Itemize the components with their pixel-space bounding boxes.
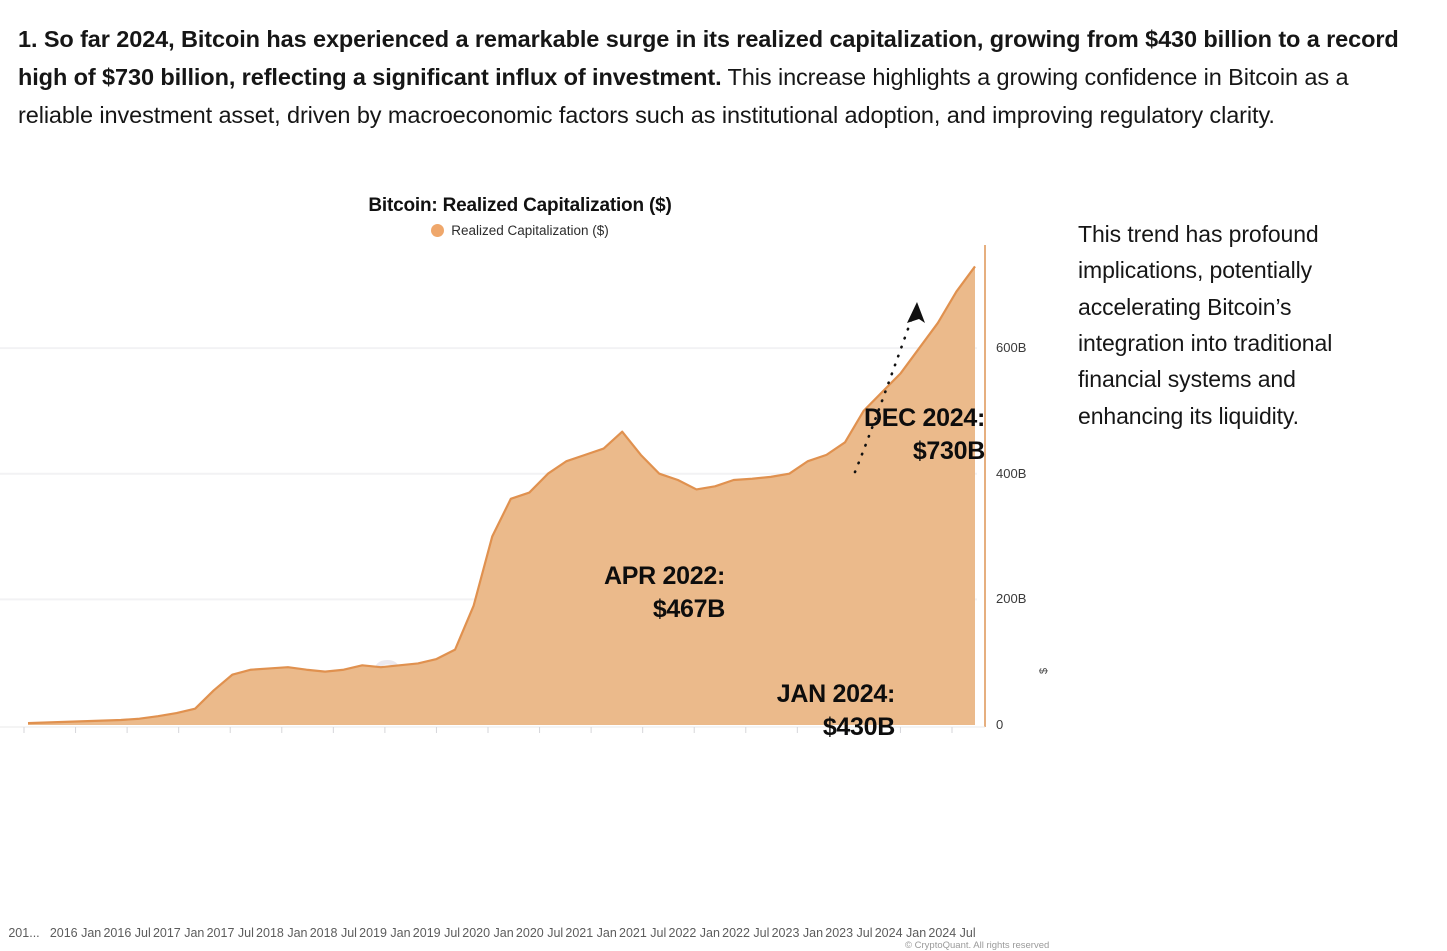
annotation-dec-2024: DEC 2024: $730B [790, 402, 985, 468]
x-tick-label-14: 2022 Jul [722, 926, 769, 940]
annotation-apr-2022: APR 2022: $467B [530, 560, 725, 626]
chart-credit: © CryptoQuant. All rights reserved [905, 940, 1049, 951]
annotation-jan-2024-value: $430B [700, 711, 895, 744]
annotation-apr-2022-value: $467B [530, 593, 725, 626]
x-tick-label-8: 2019 Jul [413, 926, 460, 940]
x-tick-label-4: 2017 Jul [207, 926, 254, 940]
x-tick-label-10: 2020 Jul [516, 926, 563, 940]
x-tick-label-17: 2024 Jan [875, 926, 926, 940]
x-tick-label-18: 2024 Jul [928, 926, 975, 940]
annotation-dec-2024-value: $730B [790, 435, 985, 468]
y-tick-label-600B: 600B [996, 340, 1026, 355]
x-tick-label-6: 2018 Jul [310, 926, 357, 940]
x-tick-label-5: 2018 Jan [256, 926, 307, 940]
y-tick-label-0: 0 [996, 717, 1003, 732]
x-tick-label-11: 2021 Jan [565, 926, 616, 940]
x-tick-label-2: 2016 Jul [103, 926, 150, 940]
chart-plot-area [0, 190, 1060, 760]
x-tick-label-13: 2022 Jan [669, 926, 720, 940]
annotation-apr-2022-label: APR 2022: [530, 560, 725, 593]
x-tick-label-15: 2023 Jan [772, 926, 823, 940]
y-axis-title: $ [1038, 668, 1050, 674]
annotation-dec-2024-label: DEC 2024: [790, 402, 985, 435]
y-tick-label-200B: 200B [996, 591, 1026, 606]
intro-paragraph: 1. So far 2024, Bitcoin has experienced … [18, 20, 1418, 134]
y-tick-label-400B: 400B [996, 466, 1026, 481]
x-axis-tick-labels: 201...2016 Jan2016 Jul2017 Jan2017 Jul20… [0, 926, 980, 944]
x-tick-label-7: 2019 Jan [359, 926, 410, 940]
realized-capitalization-chart: Bitcoin: Realized Capitalization ($) Rea… [0, 190, 1060, 760]
area-series-fill [28, 266, 975, 725]
x-tick-label-9: 2020 Jan [462, 926, 513, 940]
annotation-jan-2024-label: JAN 2024: [700, 678, 895, 711]
x-tick-label-1: 2016 Jan [50, 926, 101, 940]
x-tick-label-0: 201... [8, 926, 39, 940]
x-tick-label-3: 2017 Jan [153, 926, 204, 940]
x-tick-label-12: 2021 Jul [619, 926, 666, 940]
x-tick-label-16: 2023 Jul [825, 926, 872, 940]
side-paragraph: This trend has profound implications, po… [1078, 216, 1398, 434]
annotation-jan-2024: JAN 2024: $430B [700, 678, 895, 744]
